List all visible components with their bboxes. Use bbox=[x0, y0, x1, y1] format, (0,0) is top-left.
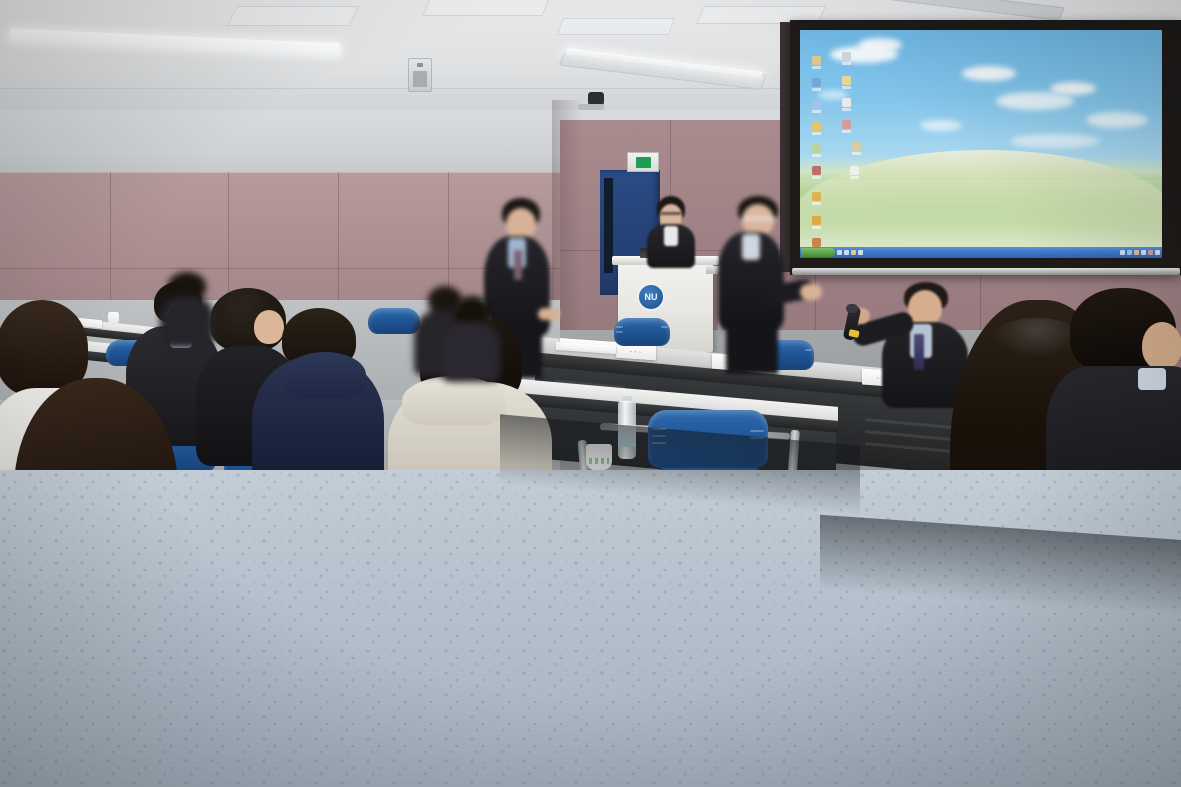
hood bbox=[284, 352, 366, 398]
seminar-room-photo: NU ▫ ▫ ▫ ▫ ▫ ▫ ▫ ▫ ▫ bbox=[0, 0, 1181, 787]
eyeglasses bbox=[742, 216, 776, 221]
desktop-icon[interactable] bbox=[842, 120, 851, 133]
university-emblem: NU bbox=[637, 283, 665, 311]
person-walking-right bbox=[716, 196, 816, 376]
desktop-icon[interactable] bbox=[850, 166, 859, 179]
projected-desktop bbox=[800, 30, 1162, 258]
torso bbox=[442, 322, 500, 382]
tray-icon[interactable] bbox=[1148, 250, 1153, 255]
quick-launch-icon[interactable] bbox=[851, 250, 856, 255]
desktop-icon[interactable] bbox=[812, 166, 821, 179]
necktie bbox=[914, 334, 924, 370]
eyeglasses bbox=[661, 212, 681, 215]
person-audience-background bbox=[160, 272, 216, 342]
desktop-icon[interactable] bbox=[812, 56, 821, 69]
quick-launch-icon[interactable] bbox=[844, 250, 849, 255]
tray-icon[interactable] bbox=[1134, 250, 1139, 255]
desktop-icon[interactable] bbox=[812, 122, 821, 135]
desktop-icon[interactable] bbox=[812, 144, 821, 157]
ceiling-speaker bbox=[408, 58, 432, 92]
tray-icon[interactable] bbox=[1155, 250, 1160, 255]
person-audience-background bbox=[442, 296, 504, 376]
taskbar[interactable] bbox=[800, 247, 1162, 258]
fluorescent-light bbox=[877, 0, 1065, 21]
person-podium-speaker bbox=[645, 196, 697, 266]
desktop-icon[interactable] bbox=[842, 76, 851, 89]
shirt bbox=[664, 226, 678, 246]
fluorescent-light bbox=[10, 29, 340, 56]
exit-sign bbox=[627, 152, 659, 172]
hand bbox=[800, 284, 822, 300]
emblem-text: NU bbox=[645, 293, 658, 302]
tray-icon[interactable] bbox=[1120, 250, 1125, 255]
torso bbox=[160, 296, 214, 348]
quick-launch-icon[interactable] bbox=[858, 250, 863, 255]
tray-icon[interactable] bbox=[1127, 250, 1132, 255]
desktop-icon[interactable] bbox=[812, 100, 821, 113]
quick-launch-icon[interactable] bbox=[837, 250, 842, 255]
desktop-icon[interactable] bbox=[842, 98, 851, 111]
tray-icon[interactable] bbox=[1141, 250, 1146, 255]
desktop-icon[interactable] bbox=[842, 52, 851, 65]
shirt-collar bbox=[742, 234, 760, 260]
floor-speckle-pattern bbox=[0, 470, 1181, 787]
chair[interactable] bbox=[614, 318, 670, 358]
shirt-collar bbox=[1138, 368, 1166, 390]
screen-bottom-bar bbox=[792, 268, 1180, 275]
wall-camera-mount bbox=[578, 104, 604, 110]
legs bbox=[726, 326, 778, 374]
head bbox=[1142, 322, 1181, 370]
hood bbox=[402, 376, 506, 426]
necktie bbox=[514, 250, 522, 280]
system-tray[interactable] bbox=[1120, 250, 1160, 255]
microphone-head bbox=[846, 304, 858, 313]
exit-sign-glyph bbox=[636, 157, 651, 168]
desktop-icon[interactable] bbox=[812, 78, 821, 91]
desktop-icon[interactable] bbox=[852, 142, 861, 155]
